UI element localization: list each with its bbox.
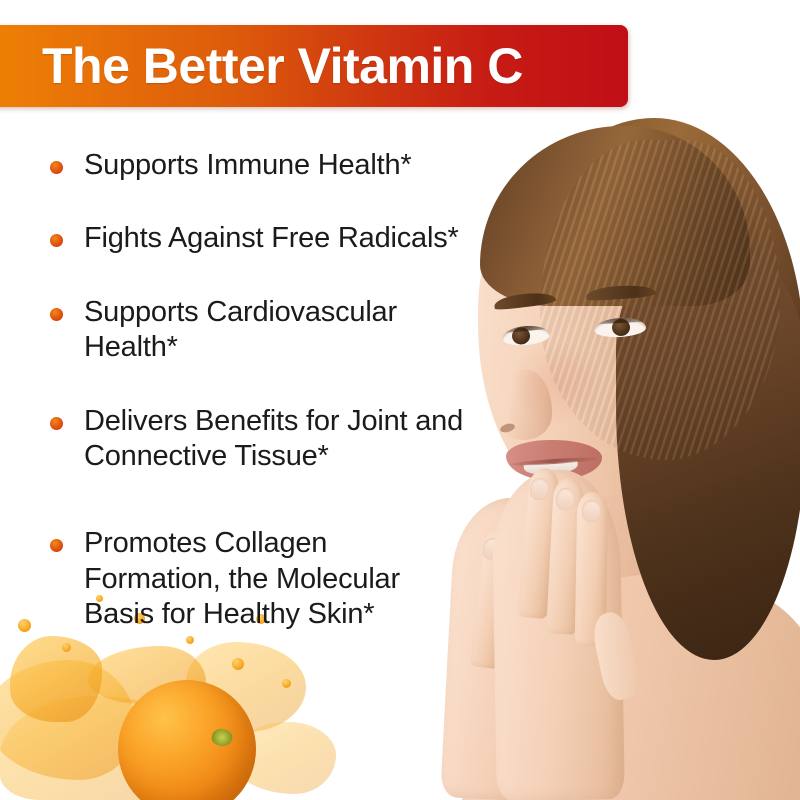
benefit-label: Supports Immune Health*	[84, 148, 464, 183]
bullet-dot-icon	[50, 417, 63, 430]
header-banner: The Better Vitamin C	[0, 25, 628, 107]
list-item: Supports Immune Health*	[44, 148, 464, 183]
juice-droplet-shape	[62, 643, 71, 652]
juice-splash-shape	[0, 660, 136, 780]
juice-splash-shape	[0, 696, 200, 800]
orange-stem-shape	[210, 726, 234, 748]
juice-splash-shape	[10, 636, 102, 722]
juice-droplet-shape	[232, 658, 244, 670]
fingernail-shape	[582, 500, 601, 522]
bullet-dot-icon	[50, 308, 63, 321]
juice-splash-shape	[88, 646, 206, 704]
hair-strands-shape	[540, 140, 780, 460]
bullet-dot-icon	[50, 161, 63, 174]
bullet-dot-icon	[50, 234, 63, 247]
list-item: Supports Cardiovascular Health*	[44, 295, 464, 366]
list-item: Promotes Collagen Formation, the Molecul…	[44, 526, 464, 632]
benefit-label: Fights Against Free Radicals*	[84, 221, 464, 256]
juice-droplet-shape	[282, 679, 291, 688]
juice-splash-shape	[232, 722, 336, 794]
benefit-label: Delivers Benefits for Joint and Connecti…	[84, 404, 464, 475]
benefit-label: Promotes Collagen Formation, the Molecul…	[84, 526, 464, 632]
page-title: The Better Vitamin C	[42, 41, 523, 91]
juice-droplet-shape	[18, 619, 31, 632]
benefit-label: Supports Cardiovascular Health*	[84, 295, 464, 366]
list-item: Delivers Benefits for Joint and Connecti…	[44, 404, 464, 475]
fingernail-shape	[555, 488, 575, 511]
woman-portrait-image	[420, 0, 800, 800]
juice-droplet-shape	[186, 636, 194, 644]
list-item: Fights Against Free Radicals*	[44, 221, 464, 256]
bullet-dot-icon	[50, 539, 63, 552]
juice-splash-shape	[186, 642, 306, 732]
vitamin-c-poster: The Better Vitamin C Supports Immune Hea…	[0, 0, 800, 800]
orange-fruit-shape	[118, 680, 256, 800]
benefits-list: Supports Immune Health* Fights Against F…	[44, 148, 464, 632]
